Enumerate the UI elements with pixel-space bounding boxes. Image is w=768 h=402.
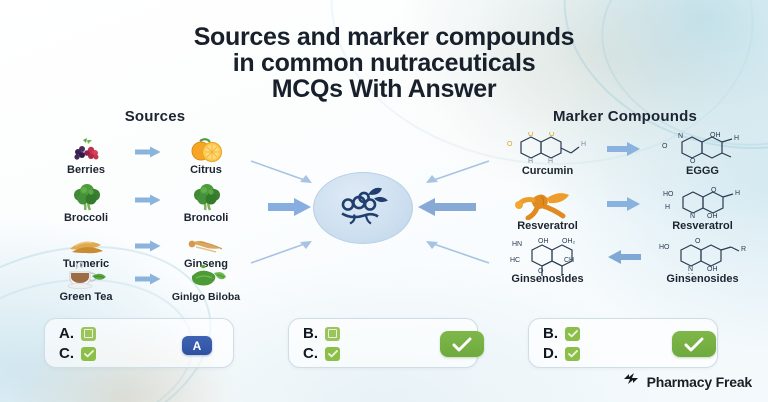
berries-icon bbox=[40, 135, 132, 163]
tea-cup-icon bbox=[40, 262, 132, 290]
square-badge bbox=[325, 327, 340, 341]
turmeric-icon bbox=[40, 229, 132, 257]
page-title: Sources and marker compounds in common n… bbox=[0, 24, 768, 102]
svg-text:OH: OH bbox=[710, 132, 721, 139]
marker-label: Resveratrol bbox=[650, 220, 755, 232]
source-label: Green Tea bbox=[40, 291, 132, 303]
source-item: Broccoli bbox=[40, 183, 132, 224]
source-label: Citrus bbox=[160, 164, 252, 176]
source-row: Green Tea Ginlgo Biloba bbox=[40, 262, 270, 308]
arrow-right-icon bbox=[135, 272, 161, 284]
arrow-left-icon bbox=[418, 160, 490, 191]
eggg-structure-icon: NOO OHH bbox=[650, 132, 755, 164]
citrus-icon bbox=[160, 135, 252, 163]
marker-item: NOO OHH EGGG bbox=[650, 132, 755, 177]
sources-heading: Sources bbox=[60, 108, 250, 125]
source-label: Berries bbox=[40, 164, 132, 176]
check-badge bbox=[565, 347, 580, 361]
svg-text:O: O bbox=[528, 132, 534, 138]
brand-footer: Pharmacy Freak bbox=[622, 371, 752, 392]
source-row: Berries bbox=[40, 135, 270, 181]
svg-text:H: H bbox=[581, 141, 586, 148]
option-letter: B. bbox=[303, 325, 318, 342]
svg-text:OH: OH bbox=[707, 266, 718, 273]
svg-text:O: O bbox=[507, 141, 513, 148]
source-row: Broccoli Broncoli bbox=[40, 183, 270, 229]
option-letter: D. bbox=[543, 345, 558, 362]
option-letter: B. bbox=[543, 325, 558, 342]
broccoli-icon bbox=[40, 183, 132, 211]
svg-text:O: O bbox=[549, 132, 555, 138]
marker-row: HNOH OH₂HC OCH Ginsenosides bbox=[495, 240, 760, 290]
pharmacy-freak-logo bbox=[622, 371, 640, 392]
svg-text:R: R bbox=[741, 246, 746, 253]
marker-item: Resveratrol bbox=[495, 187, 600, 232]
source-item: Citrus bbox=[160, 135, 252, 176]
berry-cluster-icon bbox=[332, 184, 394, 233]
turmeric-root-icon bbox=[495, 187, 600, 219]
answer-option[interactable]: B. bbox=[543, 325, 580, 342]
svg-text:H: H bbox=[548, 158, 553, 164]
marker-label: EGGG bbox=[650, 165, 755, 177]
svg-text:H: H bbox=[528, 158, 533, 164]
marker-label: Curcumin bbox=[495, 165, 600, 177]
marker-label: Resveratrol bbox=[495, 220, 600, 232]
svg-text:HC: HC bbox=[510, 257, 520, 264]
svg-text:O: O bbox=[711, 187, 717, 194]
title-line-2: in common nutraceuticals bbox=[0, 50, 768, 76]
svg-text:OH₂: OH₂ bbox=[562, 238, 576, 245]
marker-item: HOH NH OOH H Resveratrol bbox=[650, 187, 755, 232]
marker-row: Resveratrol HOH NH OOH bbox=[495, 187, 760, 237]
marker-item: HOO NH OHR Ginsenosides bbox=[650, 240, 755, 285]
marker-label: Ginsenosides bbox=[650, 273, 755, 285]
option-letter: A. bbox=[59, 325, 74, 342]
check-badge bbox=[325, 347, 340, 361]
answer-option[interactable]: D. bbox=[543, 345, 580, 362]
resveratrol-structure-icon: HOH NH OOH H bbox=[650, 187, 755, 219]
source-label: Broncoli bbox=[160, 212, 252, 224]
answer-option[interactable]: C. bbox=[303, 345, 340, 362]
svg-text:HO: HO bbox=[663, 191, 674, 198]
svg-text:N: N bbox=[688, 266, 693, 273]
option-letter: C. bbox=[59, 345, 74, 362]
svg-text:O: O bbox=[662, 143, 668, 150]
arrow-left-icon bbox=[607, 250, 641, 264]
infographic-canvas: Sources and marker compounds in common n… bbox=[0, 0, 768, 402]
ginsenosides-structure-icon: HOO NH OHR bbox=[650, 240, 755, 272]
svg-text:HN: HN bbox=[512, 241, 522, 248]
source-item: Broncoli bbox=[160, 183, 252, 224]
source-label: Broccoli bbox=[40, 212, 132, 224]
arrow-right-icon bbox=[135, 239, 161, 251]
brand-name: Pharmacy Freak bbox=[647, 374, 752, 390]
svg-text:H: H bbox=[665, 204, 670, 211]
curcumin-structure-icon: OOO HHH bbox=[495, 132, 600, 164]
answer-option[interactable]: B. bbox=[303, 325, 340, 342]
marker-row: OOO HHH Curcumin bbox=[495, 132, 760, 182]
source-item: Ginlgo Biloba bbox=[160, 262, 252, 303]
answer-check-button[interactable] bbox=[440, 331, 484, 357]
answer-option[interactable]: C. bbox=[59, 345, 96, 362]
svg-text:H: H bbox=[734, 135, 739, 142]
source-label: Ginlgo Biloba bbox=[160, 291, 252, 303]
answer-check-button[interactable] bbox=[672, 331, 716, 357]
marker-item: OOO HHH Curcumin bbox=[495, 132, 600, 177]
option-letter: C. bbox=[303, 345, 318, 362]
marker-item: HNOH OH₂HC OCH Ginsenosides bbox=[495, 240, 600, 285]
arrow-right-icon bbox=[250, 238, 316, 269]
source-item: Berries bbox=[40, 135, 132, 176]
svg-text:O: O bbox=[690, 158, 696, 164]
arrow-right-icon bbox=[268, 198, 312, 221]
svg-text:N: N bbox=[690, 213, 695, 219]
square-badge bbox=[81, 327, 96, 341]
svg-text:H: H bbox=[735, 190, 740, 197]
svg-text:OH: OH bbox=[538, 238, 549, 245]
arrow-left-icon bbox=[418, 198, 476, 221]
svg-text:O: O bbox=[695, 238, 701, 245]
check-badge bbox=[565, 327, 580, 341]
ginseng-root-icon bbox=[160, 229, 252, 257]
source-item: Green Tea bbox=[40, 262, 132, 303]
svg-text:CH: CH bbox=[564, 257, 574, 264]
arrow-right-icon bbox=[607, 197, 641, 211]
svg-text:OH: OH bbox=[707, 213, 718, 219]
svg-text:HO: HO bbox=[659, 244, 670, 251]
arrow-right-icon bbox=[135, 193, 161, 205]
arrow-left-icon bbox=[418, 238, 490, 269]
answer-letter-button[interactable]: A bbox=[182, 336, 212, 355]
broccoli-icon bbox=[160, 183, 252, 211]
answer-option[interactable]: A. bbox=[59, 325, 96, 342]
check-badge bbox=[81, 347, 96, 361]
title-line-1: Sources and marker compounds bbox=[194, 23, 575, 51]
arrow-right-icon bbox=[135, 145, 161, 157]
ginkgo-leaf-icon bbox=[160, 262, 252, 290]
ginsenosides-structure-icon: HNOH OH₂HC OCH bbox=[495, 240, 600, 272]
arrow-right-icon bbox=[607, 142, 641, 156]
svg-text:N: N bbox=[678, 133, 683, 140]
arrow-right-icon bbox=[250, 160, 316, 191]
title-line-3: MCQs With Answer bbox=[0, 76, 768, 102]
markers-heading: Marker Compounds bbox=[495, 108, 755, 125]
center-hub bbox=[313, 172, 413, 244]
